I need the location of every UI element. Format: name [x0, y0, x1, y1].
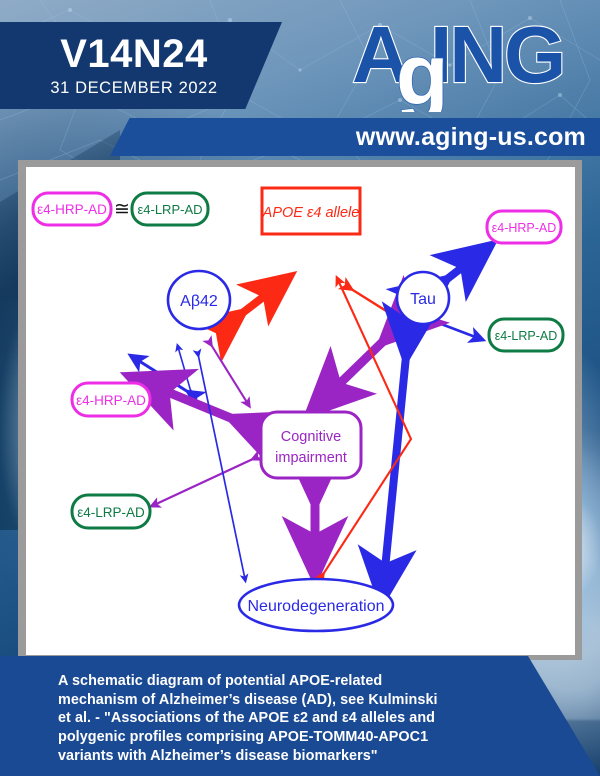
node-label: ε4-LRP-AD	[77, 505, 145, 520]
node-label: ε4-HRP-AD	[37, 202, 107, 217]
node-label: ε4-LRP-AD	[137, 202, 202, 217]
node-label: Tau	[410, 291, 436, 308]
node-label-line1: Cognitive	[281, 429, 341, 445]
website-url[interactable]: www.aging-us.com	[110, 118, 586, 156]
node-label-line2: impairment	[275, 450, 347, 466]
node-e4hrp-ad-right[interactable]: ε4-HRP-AD	[487, 211, 561, 243]
node-e4hrp-ad-top[interactable]: ε4-HRP-AD	[33, 193, 111, 225]
edge-tau-neuro	[384, 336, 408, 579]
approx-equal-symbol: ≅	[114, 199, 130, 220]
node-abeta42[interactable]: Aβ42	[168, 271, 230, 329]
node-e4lrp-ad-right[interactable]: ε4-LRP-AD	[489, 319, 563, 351]
node-label: APOE ε4 allele	[262, 205, 360, 221]
figure-caption: A schematic diagram of potential APOE-re…	[58, 672, 534, 766]
node-e4hrp-ad-left[interactable]: ε4-HRP-AD	[72, 383, 150, 416]
caption-line-3: et al. - "Associations of the APOE ε2 an…	[58, 709, 534, 728]
figure-card: ε4-HRP-AD ≅ ε4-LRP-AD APOE ε4 allele	[26, 167, 575, 655]
node-tau[interactable]: Tau	[397, 272, 449, 324]
node-neurodegeneration[interactable]: Neurodegeneration	[239, 579, 393, 631]
node-label: ε4-HRP-AD	[76, 393, 146, 408]
aging-logo[interactable]: A ING g	[352, 16, 587, 112]
journal-cover: V14N24 31 DECEMBER 2022 A ING g www.agin…	[0, 0, 600, 776]
node-label: Aβ42	[180, 293, 218, 310]
node-e4lrp-ad-left[interactable]: ε4-LRP-AD	[72, 495, 150, 528]
issue-date: 31 DECEMBER 2022	[50, 79, 217, 98]
svg-text:g: g	[396, 27, 449, 112]
volume-number: V14N24	[60, 34, 208, 74]
caption-line-1: A schematic diagram of potential APOE-re…	[58, 672, 534, 691]
edge-abeta42-cognitive	[210, 343, 248, 404]
apoe-mechanism-diagram: ε4-HRP-AD ≅ ε4-LRP-AD APOE ε4 allele	[26, 167, 575, 655]
edge-abeta42-apoe	[228, 288, 275, 324]
node-label: Neurodegeneration	[248, 598, 385, 615]
caption-line-2: mechanism of Alzheimer’s disease (AD), s…	[58, 691, 534, 710]
edge-tau-cognitive	[328, 324, 401, 395]
node-label: ε4-LRP-AD	[495, 329, 558, 343]
node-label: ε4-HRP-AD	[492, 221, 557, 235]
issue-block: V14N24 31 DECEMBER 2022	[0, 22, 268, 109]
edge-cognitive-e4lrp-left	[154, 458, 255, 505]
svg-text:ING: ING	[430, 16, 563, 99]
node-cognitive-impairment[interactable]: Cognitive impairment	[261, 412, 361, 478]
node-e4lrp-ad-top[interactable]: ε4-LRP-AD	[132, 193, 208, 225]
edge-apoe-tau	[348, 287, 399, 319]
node-apoe-e4-allele[interactable]: APOE ε4 allele	[262, 188, 360, 234]
caption-line-4: polygenic profiles comprising APOE-TOMM4…	[58, 728, 534, 747]
caption-line-5: variants with Alzheimer’s disease biomar…	[58, 747, 534, 766]
